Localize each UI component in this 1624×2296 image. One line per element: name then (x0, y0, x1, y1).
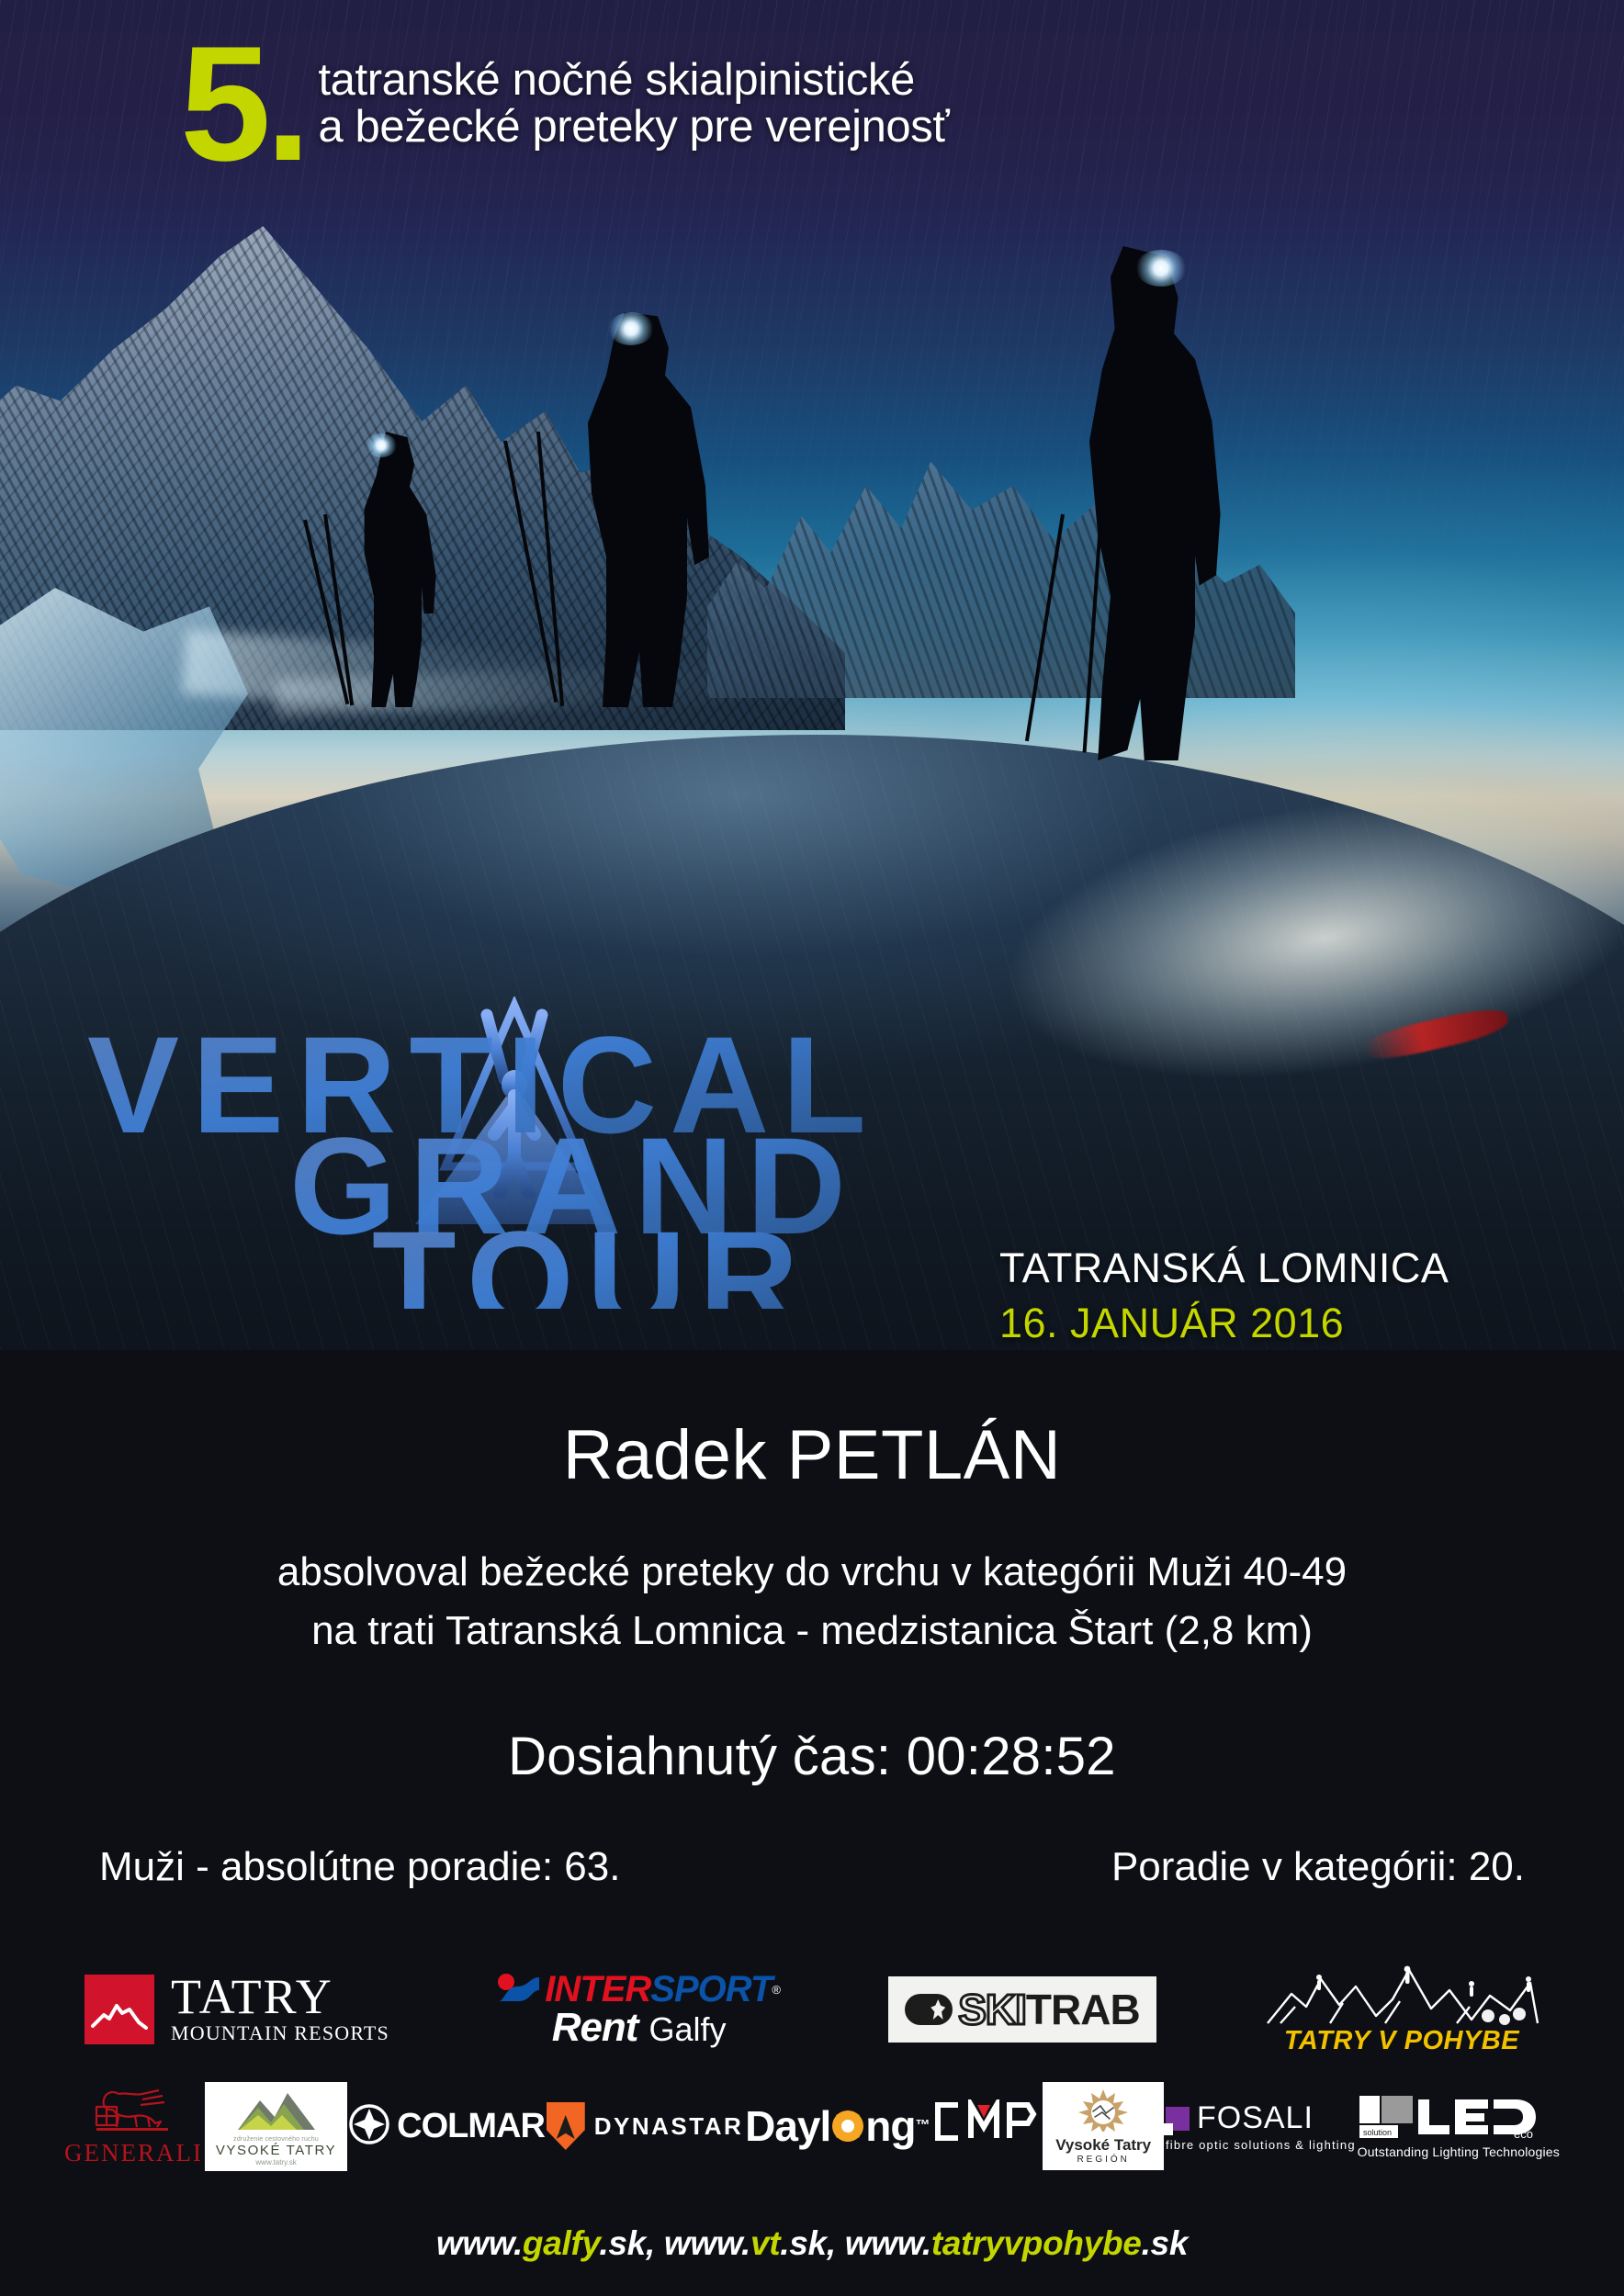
footer-urls: www.galfy.sk, www.vt.sk, www.tatryvpohyb… (0, 2224, 1624, 2263)
fosali-subtitle: fibre optic solutions & lighting (1166, 2138, 1356, 2152)
headlamp-icon (1135, 250, 1187, 287)
sponsor-vysoke-tatry[interactable]: združenie cestovného ruchu VYSOKÉ TATRY … (205, 2082, 347, 2171)
url1-prefix: www. (436, 2224, 523, 2262)
url2-domain: vt (750, 2224, 780, 2262)
event-place: TATRANSKÁ LOMNICA (999, 1244, 1449, 1292)
sponsor-row-secondary: GENERALI združenie cestovného ruchu VYSO… (0, 2076, 1624, 2177)
athlete-name: Radek PETLÁN (0, 1419, 1624, 1492)
fosali-square-icon (1166, 2107, 1190, 2131)
generali-title: GENERALI (64, 2139, 203, 2167)
colmar-star-icon (349, 2104, 389, 2149)
headlamp-icon (608, 312, 654, 345)
result-description-line-1: absolvoval bežecké preteky do vrchu v ka… (0, 1546, 1624, 1599)
trademark-icon: ™ (916, 2118, 930, 2134)
sun-face-icon (1055, 2088, 1151, 2136)
url1-domain: galfy (523, 2224, 600, 2262)
vysoke-tatry-url: www.tatry.sk (216, 2158, 336, 2167)
dynastar-title: DYNASTAR (594, 2112, 744, 2141)
headlamp-icon (366, 433, 397, 457)
sun-icon (832, 2110, 863, 2142)
vysoke-tatry-region-sub: REGIÓN (1055, 2155, 1151, 2165)
daylong-pre: Dayl (745, 2101, 830, 2151)
daylong-post: ng (865, 2101, 915, 2151)
result-block: Radek PETLÁN absolvoval bežecké preteky … (0, 1419, 1624, 1890)
skitrab-mark-icon (905, 1994, 953, 2025)
result-description-line-2: na trati Tatranská Lomnica - medzistanic… (0, 1604, 1624, 1658)
skitrab-ski: SKI (958, 1985, 1026, 2034)
mountain-icon (85, 1975, 154, 2044)
header-line-2: a bežecké preteky pre verejnosť (318, 104, 949, 151)
sponsor-colmar[interactable]: COLMAR (349, 2104, 545, 2149)
sponsor-ski-trab[interactable]: SKI TRAB (888, 1976, 1156, 2043)
sponsor-fosali[interactable]: FOSALI fibre optic solutions & lighting (1166, 2100, 1356, 2152)
url3-domain: tatryvpohybe (931, 2224, 1142, 2262)
overall-rank: Muži - absolútne poradie: 63. (99, 1844, 620, 1890)
sponsor-row-primary: TATRY MOUNTAIN RESORTS INTER SPORT ® (0, 1956, 1624, 2063)
dynastar-shield-icon (547, 2102, 585, 2150)
led-eco-logo-icon: eco solution (1358, 2094, 1541, 2142)
winged-lion-icon (91, 2085, 175, 2137)
intersport-swoosh-icon (497, 1974, 545, 2005)
tatry-mountains-icon (216, 2088, 336, 2136)
sponsor-generali[interactable]: GENERALI (64, 2085, 203, 2167)
sponsor-intersport-rent-galfy[interactable]: INTER SPORT ® Rent Galfy (497, 1969, 781, 2051)
sponsor-cmp[interactable] (930, 2099, 1041, 2154)
sponsor-area: TATRY MOUNTAIN RESORTS INTER SPORT ® (0, 1956, 1624, 2177)
sponsor-tatry-v-pohybe[interactable]: TATRY V POHYBE (1264, 1963, 1539, 2056)
sponsor-vysoke-tatry-region[interactable]: Vysoké Tatry REGIÓN (1043, 2082, 1164, 2170)
url1-suffix: .sk, (599, 2224, 664, 2262)
mountain-range-icon (1264, 1963, 1539, 2032)
edition-number: 5. (180, 37, 305, 171)
vysoke-tatry-name: VYSOKÉ TATRY (216, 2143, 336, 2158)
sponsor-daylong[interactable]: Dayl ng ™ (745, 2101, 929, 2151)
intersport-rent: Rent (552, 2005, 638, 2051)
url2-suffix: .sk, (780, 2224, 845, 2262)
svg-text:eco: eco (1514, 2127, 1533, 2141)
cmp-logo-icon (930, 2099, 1041, 2144)
url3-prefix: www. (845, 2224, 931, 2262)
header-subtitle: tatranské nočné skialpinistické a bežeck… (318, 57, 949, 152)
vysoke-tatry-region-name: Vysoké Tatry (1055, 2136, 1151, 2155)
category-rank: Poradie v kategórii: 20. (1111, 1844, 1525, 1890)
finish-time: Dosiahnutý čas: 00:28:52 (0, 1726, 1624, 1787)
sponsor-led-eco[interactable]: eco solution Outstanding Lighting Techno… (1358, 2094, 1560, 2159)
header-line-1: tatranské nočné skialpinistické (318, 57, 949, 104)
poster-header: 5. tatranské nočné skialpinistické a bež… (0, 33, 1624, 171)
led-eco-subtitle: Outstanding Lighting Technologies (1358, 2144, 1560, 2159)
url3-suffix: .sk (1142, 2224, 1189, 2262)
logo-word-tour: TOUR (372, 1202, 811, 1309)
colmar-title: COLMAR (397, 2107, 545, 2146)
vysoke-tatry-sub: združenie cestovného ruchu (216, 2136, 336, 2143)
tmr-subtitle: MOUNTAIN RESORTS (171, 2021, 389, 2045)
fosali-title: FOSALI (1197, 2100, 1314, 2136)
intersport-galfy: Galfy (648, 2010, 726, 2049)
url2-prefix: www. (664, 2224, 750, 2262)
tmr-title: TATRY (171, 1974, 389, 2021)
registered-icon: ® (772, 1983, 781, 1997)
sponsor-tatry-mountain-resorts[interactable]: TATRY MOUNTAIN RESORTS (85, 1974, 389, 2045)
svg-text:solution: solution (1363, 2128, 1392, 2137)
race-result-poster: 5. tatranské nočné skialpinistické a bež… (0, 0, 1624, 2296)
tatry-v-pohybe-title: TATRY V POHYBE (1284, 2026, 1519, 2056)
skitrab-trab: TRAB (1026, 1985, 1140, 2034)
event-date: 16. JANUÁR 2016 (999, 1300, 1344, 1347)
sponsor-dynastar[interactable]: DYNASTAR (547, 2102, 744, 2150)
